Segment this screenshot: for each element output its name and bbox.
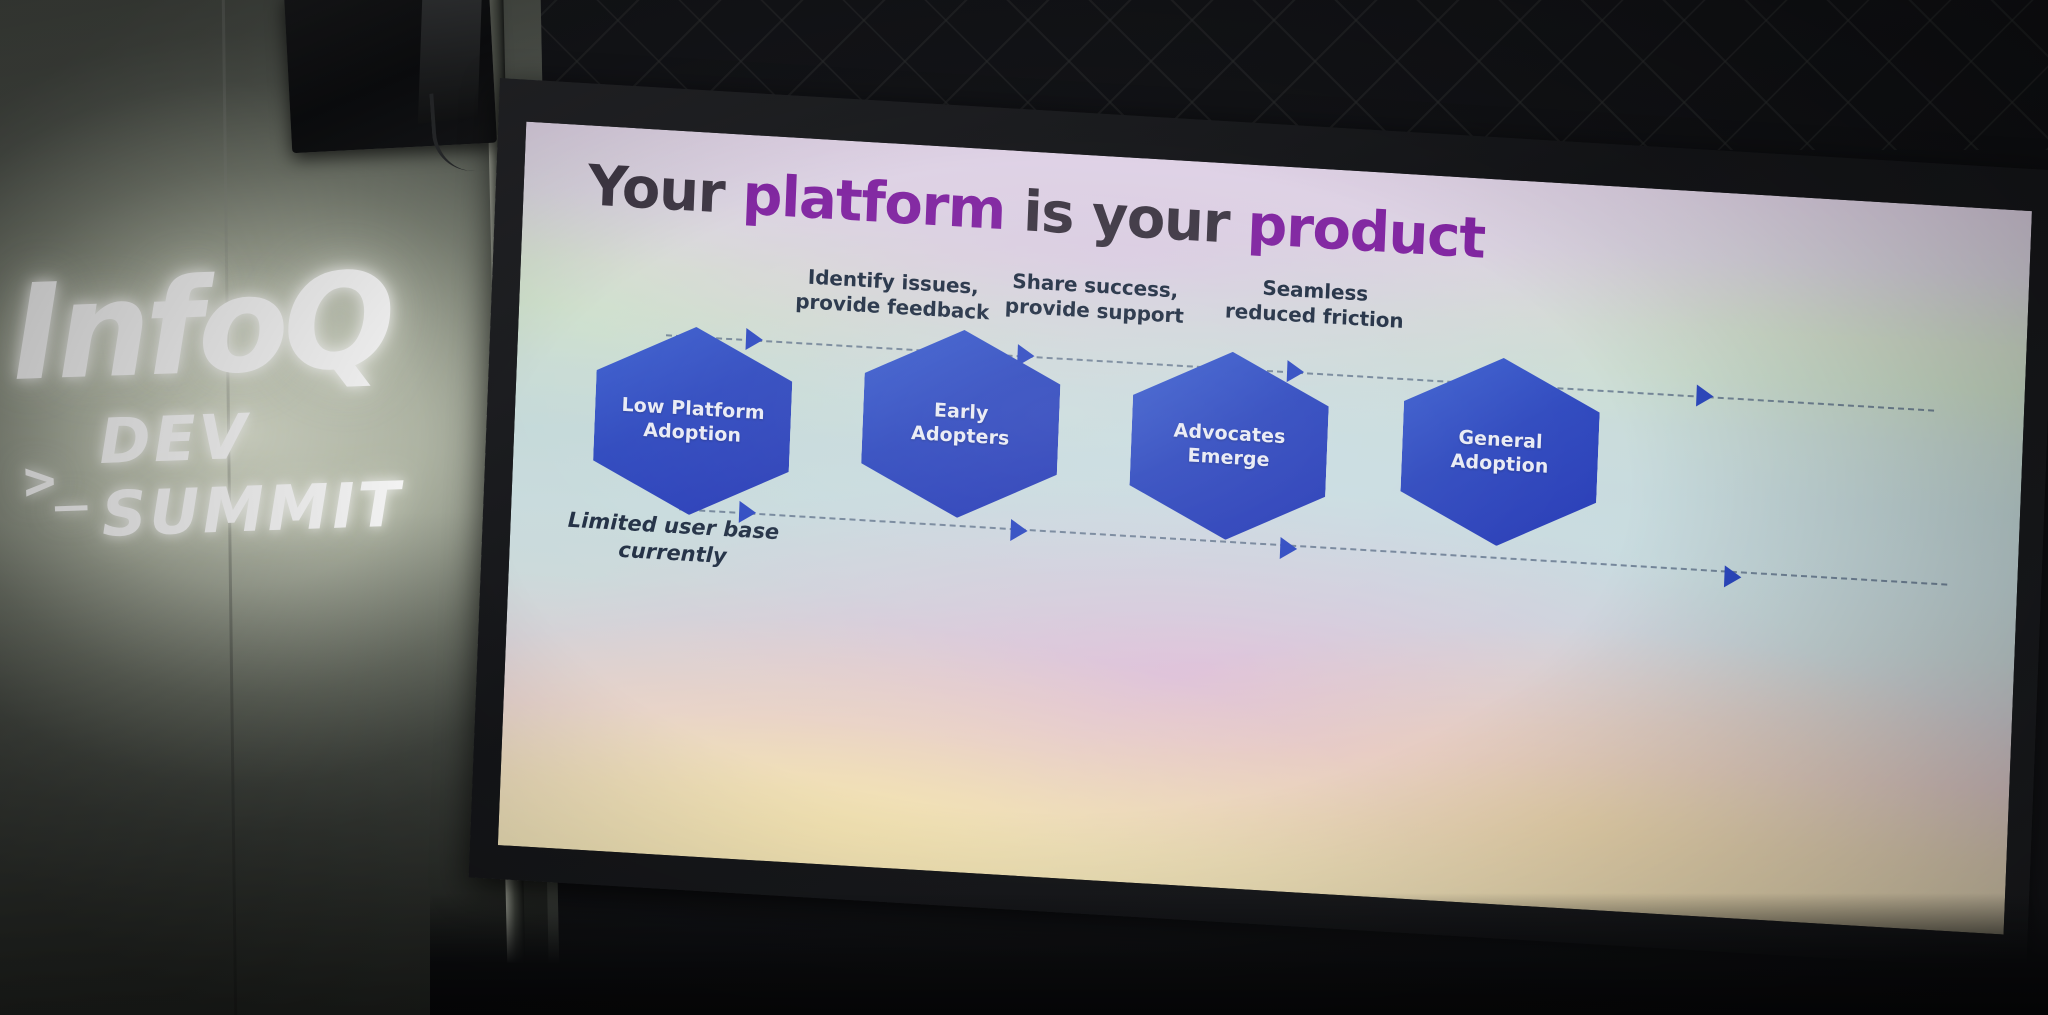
node-label: General Adoption [1450, 425, 1550, 479]
caption-seamless-reduced-friction: Seamless reduced friction [1209, 272, 1421, 335]
node-label: Early Adopters [911, 397, 1011, 451]
photo-scene: InfoQ >_ DEV SUMMIT Your platform is you… [0, 0, 2048, 1015]
presentation-screen: Your platform is your product Identify i… [467, 78, 2048, 1000]
node-label: Advocates Emerge [1172, 418, 1286, 473]
top-arrowhead-1 [746, 328, 764, 351]
adoption-flow-diagram: Identify issues, provide feedback Share … [498, 122, 2032, 935]
top-arrowhead-4 [1696, 384, 1714, 407]
node-low-platform-adoption: Low Platform Adoption [591, 321, 794, 520]
logo-subtitle-row: >_ DEV SUMMIT [21, 392, 490, 554]
caption-identify-issues: Identify issues, provide feedback [787, 263, 999, 326]
bottom-arrowhead-2 [1010, 519, 1028, 542]
infoq-wordmark: InfoQ [10, 252, 484, 400]
bottom-connector-line [679, 508, 1947, 585]
floor-shadow [430, 893, 2048, 1015]
bottom-arrowhead-3 [1280, 537, 1298, 560]
caption-share-success: Share success, provide support [989, 267, 1201, 330]
top-arrowhead-3 [1287, 360, 1305, 383]
terminal-prompt-icon: >_ [22, 447, 85, 512]
node-general-adoption: General Adoption [1399, 352, 1602, 551]
bottom-arrowhead-4 [1724, 565, 1742, 588]
infoq-dev-summit-logo: InfoQ >_ DEV SUMMIT [10, 252, 490, 554]
screen-display-area: Your platform is your product Identify i… [498, 122, 2032, 935]
node-label: Low Platform Adoption [620, 392, 765, 449]
dev-summit-label: DEV SUMMIT [98, 392, 490, 551]
